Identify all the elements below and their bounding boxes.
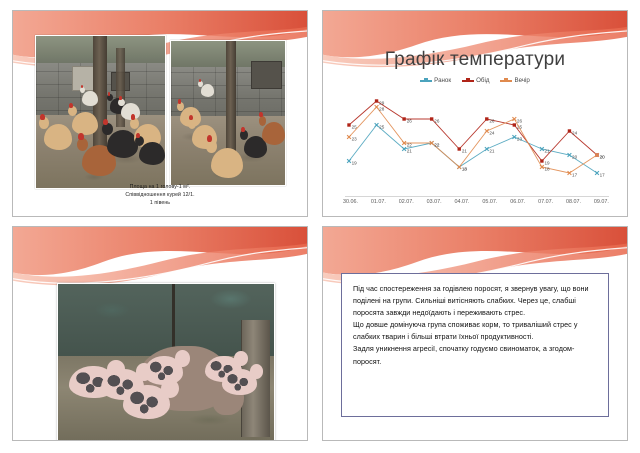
svg-text:21: 21 (407, 148, 413, 153)
legend-swatch-noon (462, 80, 474, 82)
x-axis-tick-label: 07.07. (538, 199, 553, 205)
x-axis-tick-label: 01.07. (371, 199, 386, 205)
chart-title: Графік температури (323, 49, 627, 71)
svg-text:23: 23 (352, 136, 358, 141)
chicken-photo-1[interactable] (35, 35, 166, 189)
x-axis-tick-label: 30.06. (343, 199, 358, 205)
x-axis-tick-label: 06.07. (510, 199, 525, 205)
legend-label-morning: Ранок (434, 77, 451, 84)
slide-sheet: Площа на 1 голову-1 м². Співвідношення к… (0, 0, 640, 453)
svg-text:26: 26 (489, 118, 495, 123)
slide-pigs-photo[interactable] (12, 226, 308, 441)
x-axis-tick-label: 03.07. (427, 199, 442, 205)
chart-plot-area: 1925212218212321201725292626212625192420… (335, 89, 617, 197)
svg-text:23: 23 (517, 136, 523, 141)
observation-body: Під час спостереження за годівлею порося… (353, 283, 598, 368)
x-axis-tick-label: 02.07. (399, 199, 414, 205)
photo-group (35, 35, 286, 189)
coop-caption: Площа на 1 голову-1 м². Співвідношення к… (13, 183, 307, 207)
svg-text:24: 24 (572, 130, 578, 135)
legend-item-morning[interactable]: Ранок (420, 77, 451, 84)
svg-text:20: 20 (572, 154, 578, 159)
x-axis-tick-label: 08.07. (566, 199, 581, 205)
svg-text:26: 26 (434, 118, 440, 123)
svg-text:22: 22 (407, 142, 413, 147)
x-axis-tick-label: 04.07. (455, 199, 470, 205)
chicken-photo-2[interactable] (170, 40, 286, 186)
svg-text:18: 18 (544, 166, 550, 171)
slide-observation-text[interactable]: Під час спостереження за годівлею порося… (322, 226, 628, 441)
caption-line-3: 1 півень (13, 199, 307, 207)
pig-photo[interactable] (57, 283, 275, 441)
svg-text:24: 24 (489, 130, 495, 135)
slide-temperature-chart[interactable]: Графік температури Ранок Обід Вечір 1925… (322, 10, 628, 217)
svg-text:22: 22 (434, 142, 440, 147)
svg-text:26: 26 (407, 118, 413, 123)
legend-label-evening: Вечір (514, 77, 529, 84)
legend-label-noon: Обід (476, 77, 489, 84)
svg-text:28: 28 (379, 106, 385, 111)
legend-swatch-evening (500, 80, 512, 82)
svg-text:29: 29 (379, 100, 385, 105)
chart-legend: Ранок Обід Вечір (323, 77, 627, 84)
svg-text:25: 25 (379, 124, 385, 129)
caption-line-1: Площа на 1 голову-1 м². (13, 183, 307, 191)
svg-text:19: 19 (352, 160, 358, 165)
svg-text:18: 18 (462, 166, 468, 171)
svg-text:21: 21 (462, 148, 468, 153)
svg-text:17: 17 (600, 172, 606, 177)
legend-item-noon[interactable]: Обід (462, 77, 489, 84)
slide-chicken-coop[interactable]: Площа на 1 голову-1 м². Співвідношення к… (12, 10, 308, 217)
svg-text:19: 19 (544, 160, 550, 165)
chart-axis-rule (345, 196, 609, 197)
legend-item-evening[interactable]: Вечір (500, 77, 529, 84)
observation-textbox[interactable]: Під час спостереження за годівлею порося… (341, 273, 609, 417)
svg-text:21: 21 (489, 148, 495, 153)
x-axis-tick-label: 09.07. (594, 199, 609, 205)
legend-swatch-morning (420, 80, 432, 82)
svg-text:26: 26 (517, 118, 523, 123)
caption-line-2: Співвідношення курей 12/1. (13, 191, 307, 199)
svg-text:20: 20 (600, 154, 606, 159)
x-axis-tick-label: 05.07. (482, 199, 497, 205)
chart-x-axis-labels: 30.06.01.07.02.07.03.07.04.07.05.07.06.0… (335, 199, 617, 205)
svg-text:17: 17 (572, 172, 578, 177)
